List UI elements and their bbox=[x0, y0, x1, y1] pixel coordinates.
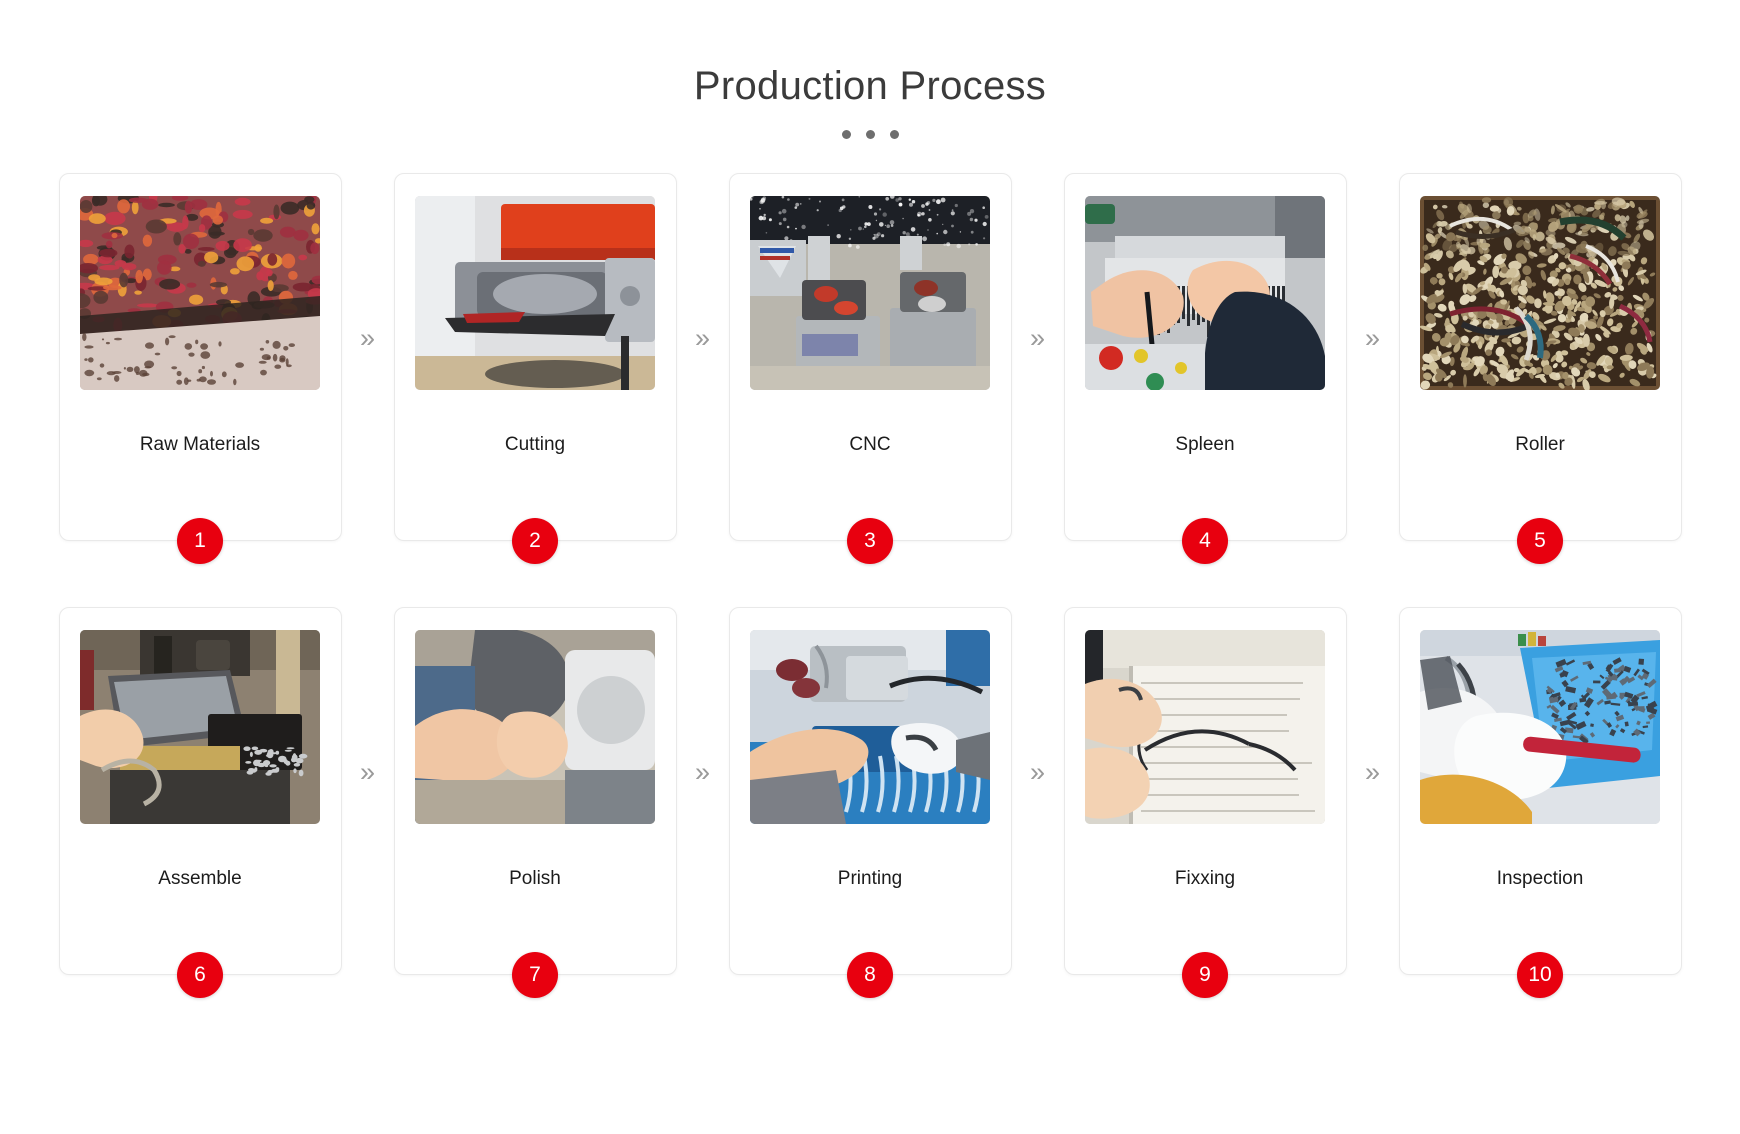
process-step-card[interactable]: Roller5 bbox=[1399, 173, 1682, 541]
assemble-photo[interactable] bbox=[80, 630, 320, 824]
process-step-label: Raw Materials bbox=[140, 434, 260, 457]
process-step-card[interactable]: Cutting2 bbox=[394, 173, 677, 541]
process-step-card[interactable]: Fixxing9 bbox=[1064, 607, 1347, 975]
double-chevron-right-icon: » bbox=[677, 325, 729, 352]
process-step-number-badge: 7 bbox=[512, 952, 558, 998]
double-chevron-right-icon: » bbox=[1012, 759, 1064, 786]
process-step: Assemble6 bbox=[59, 607, 342, 975]
process-step: CNC3 bbox=[729, 173, 1012, 541]
process-row: Raw Materials1»Cutting2»CNC3»Spleen4»Rol… bbox=[0, 173, 1740, 541]
process-step-card[interactable]: Assemble6 bbox=[59, 607, 342, 975]
roller-photo[interactable] bbox=[1420, 196, 1660, 390]
process-step-card[interactable]: Polish7 bbox=[394, 607, 677, 975]
dot-icon bbox=[890, 130, 899, 139]
process-step: Fixxing9 bbox=[1064, 607, 1347, 975]
double-chevron-right-icon: » bbox=[1012, 325, 1064, 352]
process-step-label: Cutting bbox=[505, 434, 565, 457]
process-step-number-badge: 6 bbox=[177, 952, 223, 998]
double-chevron-right-icon: » bbox=[1347, 325, 1399, 352]
dot-separator bbox=[0, 130, 1740, 139]
page-title: Production Process bbox=[0, 62, 1740, 110]
process-step-card[interactable]: Printing8 bbox=[729, 607, 1012, 975]
double-chevron-right-icon: » bbox=[677, 759, 729, 786]
process-step-label: CNC bbox=[849, 434, 890, 457]
process-steps-grid: Raw Materials1»Cutting2»CNC3»Spleen4»Rol… bbox=[0, 173, 1740, 975]
process-step-label: Polish bbox=[509, 868, 561, 891]
production-process-page: Production Process Raw Materials1»Cuttin… bbox=[0, 0, 1740, 1134]
process-step: Cutting2 bbox=[394, 173, 677, 541]
process-step-label: Assemble bbox=[158, 868, 241, 891]
process-step-number-badge: 4 bbox=[1182, 518, 1228, 564]
inspection-photo[interactable] bbox=[1420, 630, 1660, 824]
process-step-label: Spleen bbox=[1175, 434, 1234, 457]
process-step-label: Inspection bbox=[1497, 868, 1584, 891]
double-chevron-right-icon: » bbox=[342, 325, 394, 352]
process-step-number-badge: 8 bbox=[847, 952, 893, 998]
process-step: Raw Materials1 bbox=[59, 173, 342, 541]
process-row: Assemble6»Polish7»Printing8»Fixxing9»Ins… bbox=[0, 607, 1740, 975]
page-header: Production Process bbox=[0, 62, 1740, 139]
process-step-number-badge: 1 bbox=[177, 518, 223, 564]
dot-icon bbox=[866, 130, 875, 139]
raw-materials-photo[interactable] bbox=[80, 196, 320, 390]
process-step-number-badge: 5 bbox=[1517, 518, 1563, 564]
process-step-number-badge: 3 bbox=[847, 518, 893, 564]
process-step: Roller5 bbox=[1399, 173, 1682, 541]
process-step: Polish7 bbox=[394, 607, 677, 975]
process-step: Spleen4 bbox=[1064, 173, 1347, 541]
process-step-number-badge: 10 bbox=[1517, 952, 1563, 998]
process-step-label: Roller bbox=[1515, 434, 1565, 457]
dot-icon bbox=[842, 130, 851, 139]
printing-photo[interactable] bbox=[750, 630, 990, 824]
process-step: Inspection10 bbox=[1399, 607, 1682, 975]
cnc-photo[interactable] bbox=[750, 196, 990, 390]
process-step: Printing8 bbox=[729, 607, 1012, 975]
process-step-card[interactable]: Raw Materials1 bbox=[59, 173, 342, 541]
cutting-photo[interactable] bbox=[415, 196, 655, 390]
process-step-number-badge: 9 bbox=[1182, 952, 1228, 998]
spleen-photo[interactable] bbox=[1085, 196, 1325, 390]
double-chevron-right-icon: » bbox=[1347, 759, 1399, 786]
process-step-label: Fixxing bbox=[1175, 868, 1235, 891]
process-step-card[interactable]: Spleen4 bbox=[1064, 173, 1347, 541]
fixxing-photo[interactable] bbox=[1085, 630, 1325, 824]
double-chevron-right-icon: » bbox=[342, 759, 394, 786]
process-step-number-badge: 2 bbox=[512, 518, 558, 564]
process-step-card[interactable]: CNC3 bbox=[729, 173, 1012, 541]
polish-photo[interactable] bbox=[415, 630, 655, 824]
process-step-label: Printing bbox=[838, 868, 902, 891]
process-step-card[interactable]: Inspection10 bbox=[1399, 607, 1682, 975]
